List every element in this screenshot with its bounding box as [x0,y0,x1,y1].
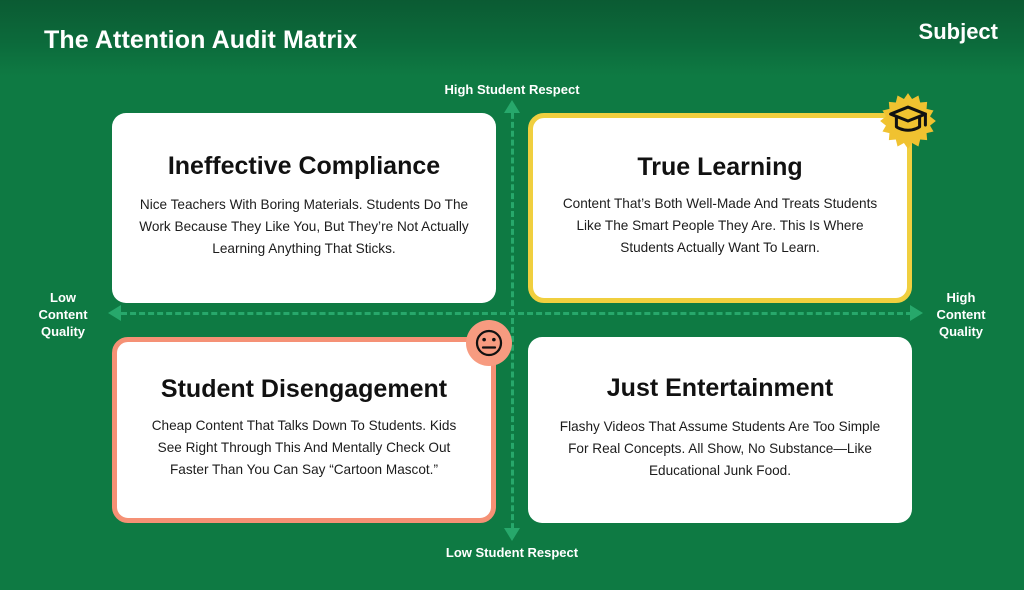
quadrant-body: Content That’s Both Well-Made And Treats… [555,193,885,259]
quadrant-title: Ineffective Compliance [168,152,440,182]
arrow-left-icon [108,305,121,321]
axis-label-left: Low Content Quality [20,289,106,340]
quadrant-title: Student Disengagement [161,375,447,405]
quadrant-card-student-disengagement[interactable]: Student Disengagement Cheap Content That… [112,337,496,523]
quadrant-card-just-entertainment[interactable]: Just Entertainment Flashy Videos That As… [528,337,912,523]
quadrant-title: Just Entertainment [607,374,833,404]
arrow-down-icon [504,528,520,541]
quadrant-body: Nice Teachers With Boring Materials. Stu… [134,194,474,260]
arrow-up-icon [504,100,520,113]
subject-label: Subject [919,19,998,45]
quadrant-body: Flashy Videos That Assume Students Are T… [550,416,890,482]
neutral-face-badge [466,320,512,366]
vertical-axis-line [511,104,514,538]
quadrant-title: True Learning [637,153,802,183]
matrix-canvas: The Attention Audit Matrix Subject High … [0,0,1024,590]
quadrant-card-true-learning[interactable]: True Learning Content That’s Both Well-M… [528,113,912,303]
axis-label-right: High Content Quality [918,289,1004,340]
graduation-cap-star-badge [879,92,937,150]
page-title: The Attention Audit Matrix [44,26,357,55]
axis-label-bottom: Low Student Respect [0,544,1024,561]
neutral-face-icon [474,328,504,358]
quadrant-card-ineffective-compliance[interactable]: Ineffective Compliance Nice Teachers Wit… [112,113,496,303]
axis-label-top: High Student Respect [0,81,1024,98]
quadrant-body: Cheap Content That Talks Down To Student… [139,415,469,481]
